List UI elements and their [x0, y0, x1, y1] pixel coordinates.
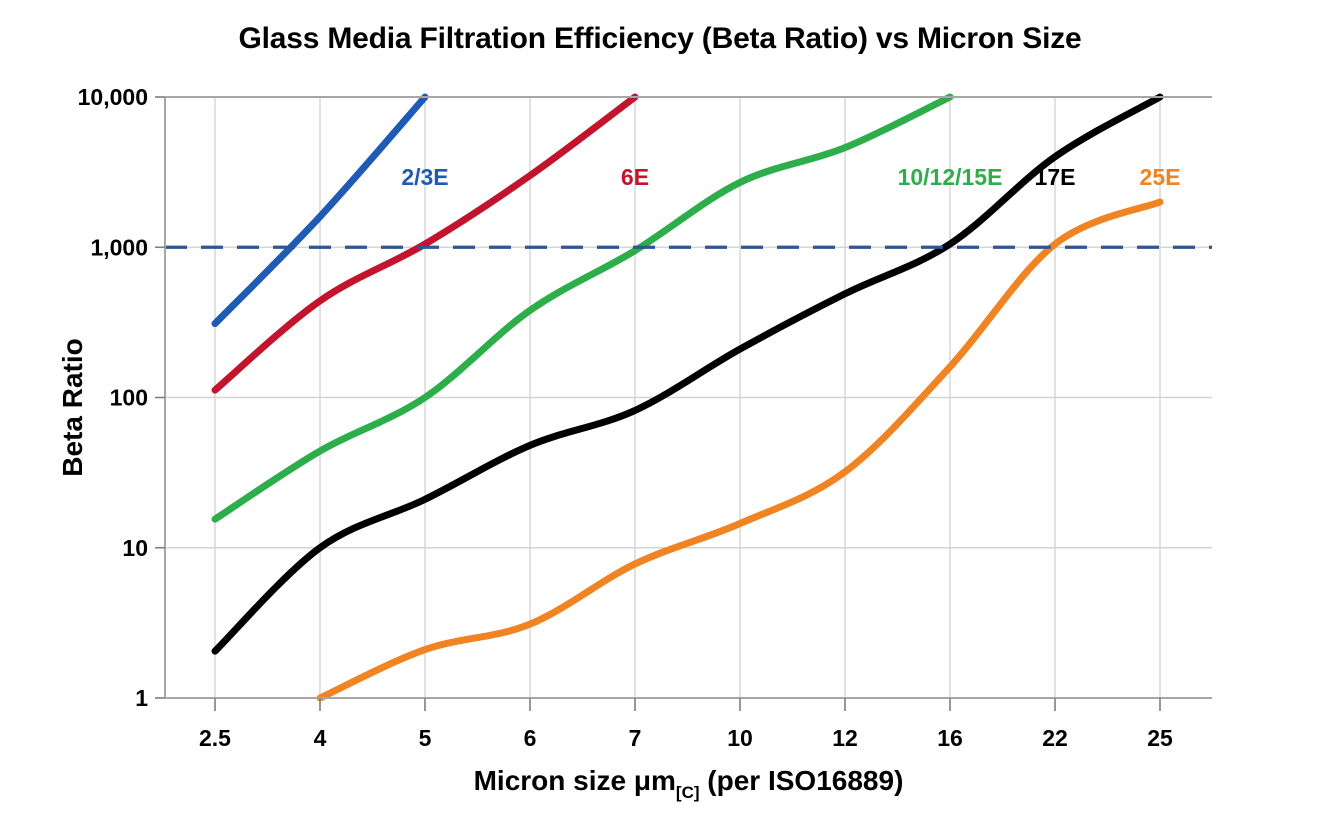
y-axis-tick-label: 10: [122, 535, 148, 561]
x-axis-title-subscript: [C]: [676, 783, 700, 802]
x-axis-tick-label: 2.5: [199, 725, 231, 751]
y-axis-tick-label: 1: [135, 685, 148, 711]
x-axis-tick-label: 6: [524, 725, 537, 751]
x-axis-tick-label: 4: [314, 725, 327, 751]
series-label-25e: 25E: [1140, 164, 1181, 190]
y-axis-tick-label: 1,000: [90, 234, 148, 260]
x-axis-title: Micron size μm[C] (per ISO16889): [474, 765, 904, 802]
x-axis-tick-label: 10: [727, 725, 753, 751]
x-axis-tick-label: 5: [419, 725, 432, 751]
x-axis-tick-label: 25: [1147, 725, 1173, 751]
y-axis-tick-label: 10,000: [78, 84, 148, 110]
y-axis-title: Beta Ratio: [57, 338, 88, 476]
chart-container: Glass Media Filtration Efficiency (Beta …: [0, 0, 1320, 820]
series-label-10-12-15e: 10/12/15E: [898, 164, 1003, 190]
series-label-6e: 6E: [621, 164, 649, 190]
x-axis-title-main: Micron size μm: [474, 765, 676, 796]
series-line-10-12-15e: [215, 97, 950, 519]
x-axis-title-suffix: (per ISO16889): [700, 765, 904, 796]
series-label-2-3e: 2/3E: [401, 164, 448, 190]
x-axis-tick-label: 7: [629, 725, 642, 751]
x-axis-tick-label: 12: [832, 725, 858, 751]
x-axis-tick-label: 16: [937, 725, 963, 751]
axis-titles-layer: Beta RatioMicron size μm[C] (per ISO1688…: [57, 338, 903, 802]
series-label-17e: 17E: [1035, 164, 1076, 190]
y-axis-tick-label: 100: [110, 385, 148, 411]
x-axis-tick-label: 22: [1042, 725, 1068, 751]
chart-plot-svg: 1101001,00010,0002.545671012162225 2/3E6…: [0, 0, 1320, 820]
